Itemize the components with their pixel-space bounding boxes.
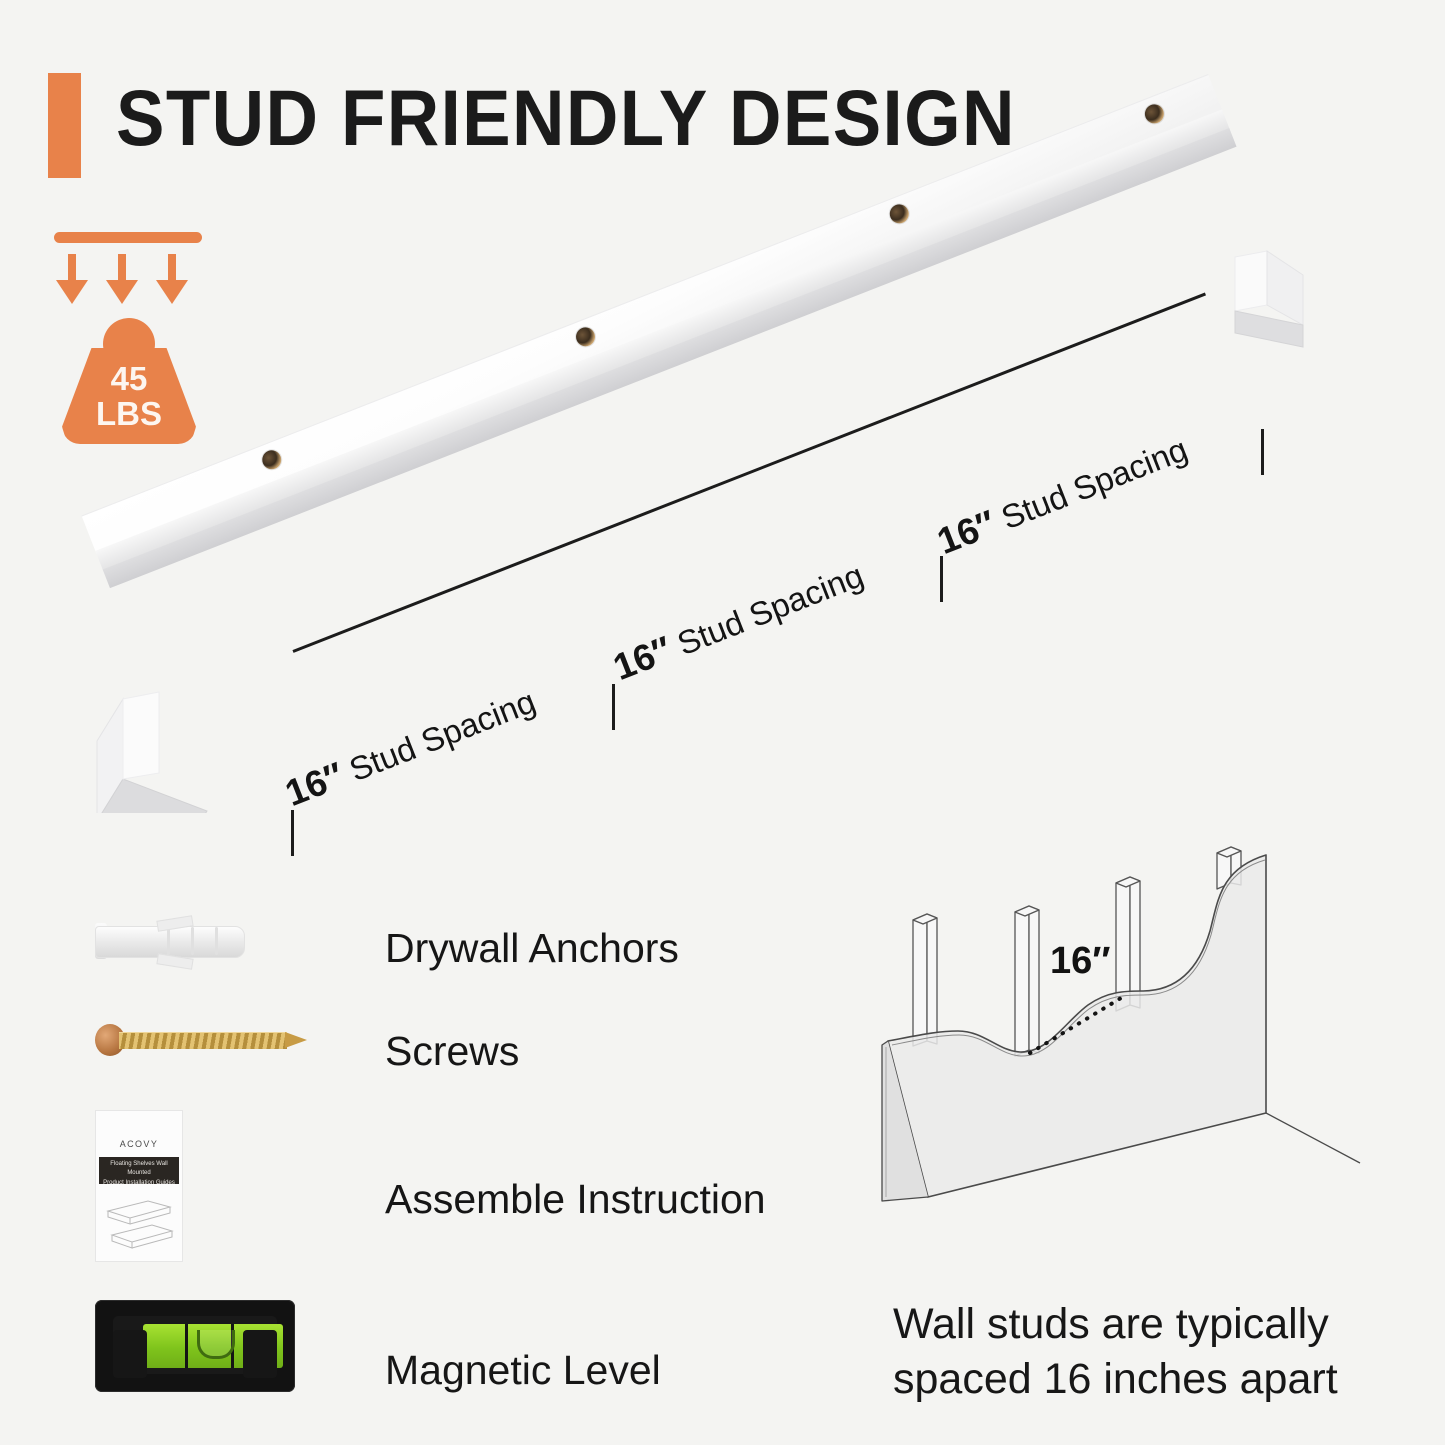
- drywall-anchor-icon: [95, 920, 250, 962]
- booklet-brand: ACOVY: [96, 1139, 182, 1149]
- booklet-banner-line1: Floating Shelves Wall Mounted: [101, 1160, 177, 1179]
- booklet-shelf-sketch: [104, 1195, 174, 1253]
- dimension-tick: [1261, 429, 1264, 475]
- wall-dimension-label: 16″: [1050, 940, 1110, 983]
- dimension-tick: [612, 684, 615, 730]
- booklet-banner-line2: Product Installation Guides: [101, 1179, 177, 1188]
- accessory-label-drywall-anchors: Drywall Anchors: [385, 925, 679, 972]
- dimension-tick: [940, 556, 943, 602]
- screw-icon: [95, 1020, 313, 1060]
- shelf-illustration: 16″ Stud Spacing 16″ Stud Spacing 16″ St…: [0, 195, 1445, 835]
- shelf-body: 16″ Stud Spacing 16″ Stud Spacing 16″ St…: [95, 213, 1325, 813]
- header-accent-bar: [48, 73, 81, 178]
- page-title: STUD FRIENDLY DESIGN: [116, 72, 1016, 164]
- infographic-canvas: STUD FRIENDLY DESIGN 45 LBS: [0, 0, 1445, 1445]
- wall-stud-cutaway-diagram: 16″: [880, 845, 1370, 1275]
- dimension-tick: [291, 810, 294, 856]
- wall-diagram-caption: Wall studs are typically spaced 16 inche…: [893, 1297, 1363, 1407]
- caption-line-1: Wall studs are typically: [893, 1297, 1363, 1352]
- accessory-label-screws: Screws: [385, 1028, 519, 1075]
- booklet-banner: Floating Shelves Wall Mounted Product In…: [99, 1157, 179, 1184]
- instruction-booklet-icon: ACOVY Floating Shelves Wall Mounted Prod…: [95, 1110, 183, 1262]
- caption-line-2: spaced 16 inches apart: [893, 1352, 1363, 1407]
- accessory-label-assemble-instruction: Assemble Instruction: [385, 1176, 766, 1223]
- shelf-profile-overlay: [95, 213, 1325, 813]
- accessory-label-magnetic-level: Magnetic Level: [385, 1347, 661, 1394]
- magnetic-level-icon: [95, 1300, 295, 1392]
